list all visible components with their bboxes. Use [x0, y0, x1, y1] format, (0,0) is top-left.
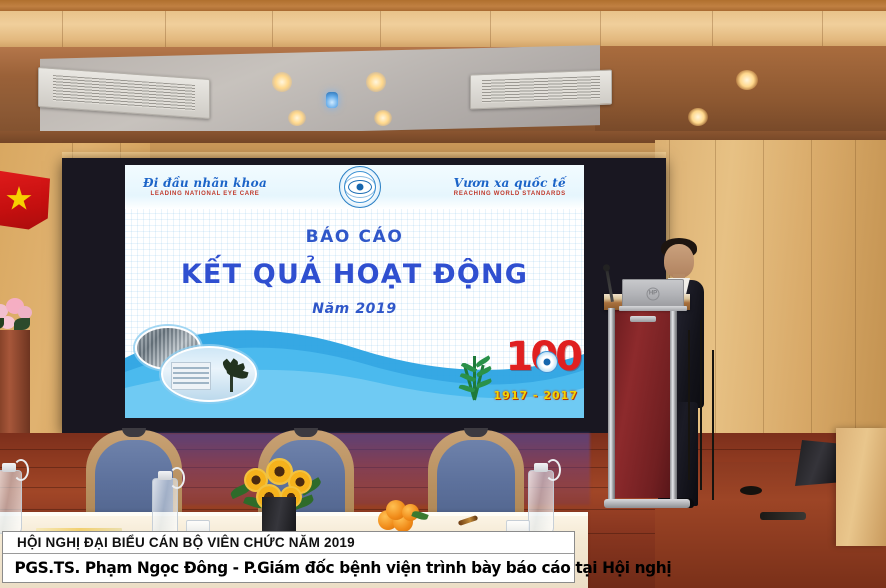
- podium-nameplate: [630, 316, 656, 322]
- ceiling-downlight-2: [366, 72, 386, 92]
- centennial-eye-icon: [536, 351, 558, 373]
- flower-vase: [262, 497, 296, 533]
- photograph-scene: Đi đầu nhãn khoa LEADING NATIONAL EYE CA…: [0, 0, 886, 588]
- ceiling-blue-indicator-light: [326, 92, 338, 108]
- motto-left: Đi đầu nhãn khoa LEADING NATIONAL EYE CA…: [143, 177, 267, 198]
- cable-coil-on-floor: [740, 486, 762, 495]
- fruit-plate-oranges: [378, 498, 434, 532]
- ceiling-downlight-1: [272, 72, 292, 92]
- slide-title: BÁO CÁO: [125, 227, 584, 247]
- podium-base-foot: [604, 499, 690, 508]
- slide-photo-collage: [133, 326, 263, 400]
- wooden-cabinet: [836, 428, 886, 546]
- ceiling-downlight-3: [288, 110, 306, 126]
- palm-tree-icon: [217, 354, 247, 392]
- motto-left-vietnamese: Đi đầu nhãn khoa: [143, 177, 267, 190]
- slide-header: Đi đầu nhãn khoa LEADING NATIONAL EYE CA…: [125, 165, 584, 209]
- laptop-base: [619, 306, 687, 311]
- podium-front-panel: [615, 310, 673, 498]
- ceiling-wood-panel-band: [0, 11, 886, 49]
- pink-flower-arrangement: [0, 290, 38, 338]
- presentation-slide: Đi đầu nhãn khoa LEADING NATIONAL EYE CA…: [125, 165, 584, 418]
- floor-cable-strip: [760, 512, 806, 520]
- motto-right-vietnamese: Vươn xa quốc tế: [454, 177, 566, 190]
- podium-rail-right: [670, 308, 677, 504]
- centennial-logo: 100 1917 - 2017: [455, 332, 580, 406]
- ceiling-downlight-5: [736, 70, 758, 90]
- caption-description: PGS.TS. Phạm Ngọc Đông - P.Giám đốc bệnh…: [3, 554, 551, 582]
- laptop-lid: HP: [622, 279, 684, 307]
- caption-event-title: HỘI NGHỊ ĐẠI BIỂU CÁN BỘ VIÊN CHỨC NĂM 2…: [3, 532, 574, 554]
- centennial-years: 1917 - 2017: [494, 389, 578, 402]
- ceiling-downlight-6: [688, 108, 708, 126]
- laurel-leaf-icon: [459, 342, 493, 400]
- slide-main-heading: KẾT QUẢ HOẠT ĐỘNG: [125, 259, 584, 290]
- hp-laptop[interactable]: HP: [622, 279, 684, 311]
- motto-left-english: LEADING NATIONAL EYE CARE: [143, 191, 267, 197]
- ceiling-ac-vent-right: [470, 70, 612, 110]
- caption-overlay: HỘI NGHỊ ĐẠI BIỂU CÁN BỘ VIÊN CHỨC NĂM 2…: [2, 531, 575, 583]
- water-bottle-3[interactable]: [528, 470, 554, 534]
- floor-monitor-speaker: [795, 440, 839, 486]
- presenter-head: [664, 244, 694, 278]
- podium-rail-left: [608, 308, 615, 504]
- water-bottle-1[interactable]: [0, 470, 22, 534]
- hp-logo-icon: HP: [647, 287, 660, 300]
- motto-right: Vươn xa quốc tế REACHING WORLD STANDARDS: [454, 177, 566, 198]
- hospital-building-photo-oval: [161, 346, 257, 402]
- motto-right-english: REACHING WORLD STANDARDS: [454, 191, 566, 197]
- hospital-building: [171, 362, 211, 390]
- lectern-podium: [604, 294, 690, 512]
- ceiling-downlight-4: [374, 110, 392, 126]
- hospital-emblem-icon: [339, 166, 381, 208]
